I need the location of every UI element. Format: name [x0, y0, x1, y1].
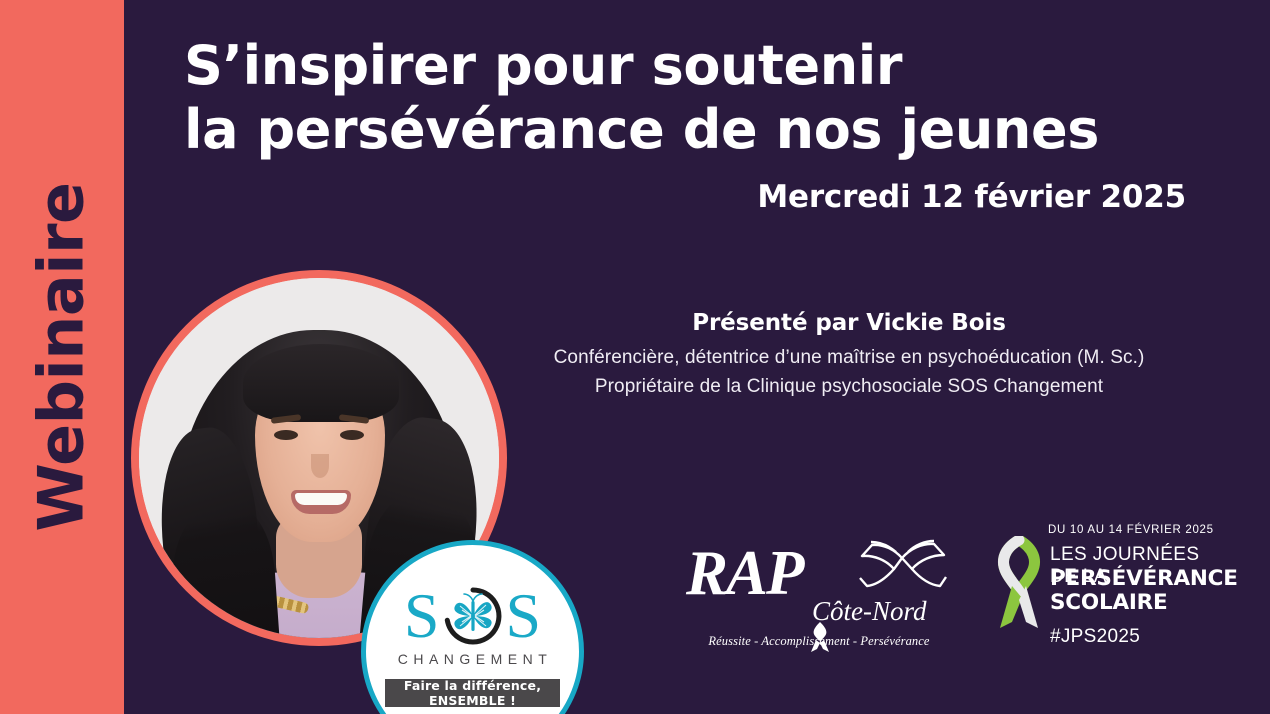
title-line-1: S’inspirer pour soutenir — [184, 34, 1214, 98]
rap-cote-nord-logo: RAP Côte-Nord — [684, 528, 954, 656]
open-book-icon — [856, 528, 950, 605]
jps-line-2: PERSÉVÉRANCE — [1050, 566, 1238, 591]
green-ribbon-icon — [992, 536, 1044, 645]
rap-wordmark: RAP — [686, 542, 803, 605]
jps-dates: DU 10 AU 14 FÉVRIER 2025 — [1048, 524, 1214, 536]
jps-line-3: SCOLAIRE — [1050, 590, 1168, 615]
sos-letter-s-left: S — [404, 584, 440, 648]
jps-logo: DU 10 AU 14 FÉVRIER 2025 LES JOURNÉES DE… — [992, 524, 1232, 654]
event-date: Mercredi 12 février 2025 — [184, 179, 1214, 215]
presenter-block: Présenté par Vickie Bois Conférencière, … — [454, 310, 1244, 398]
left-coral-band — [0, 0, 124, 714]
webinar-promo-poster: Webinaire S’inspirer pour soutenir la pe… — [0, 0, 1270, 714]
sos-letter-s-right: S — [506, 584, 542, 648]
title-block: S’inspirer pour soutenir la persévérance… — [184, 34, 1214, 215]
poster-stage: S’inspirer pour soutenir la persévérance… — [124, 0, 1270, 714]
jps-hashtag: #JPS2025 — [1050, 626, 1140, 648]
sos-slogan-banner: Faire la différence, ENSEMBLE ! — [385, 679, 560, 707]
title-line-2: la persévérance de nos jeunes — [184, 98, 1214, 162]
presenter-credentials: Conférencière, détentrice d’une maîtrise… — [454, 347, 1244, 369]
sos-slogan-text: Faire la différence, ENSEMBLE ! — [385, 678, 560, 708]
sos-wordmark: S — [366, 585, 579, 647]
sos-logo-inner: S — [366, 585, 579, 707]
rap-tagline: Réussite - Accomplissement - Persévéranc… — [684, 634, 954, 649]
presenter-role: Propriétaire de la Clinique psychosocial… — [454, 376, 1244, 398]
sos-butterfly-icon — [442, 585, 504, 647]
presenter-name: Présenté par Vickie Bois — [454, 310, 1244, 336]
sos-wordmark-changement: CHANGEMENT — [366, 651, 579, 667]
